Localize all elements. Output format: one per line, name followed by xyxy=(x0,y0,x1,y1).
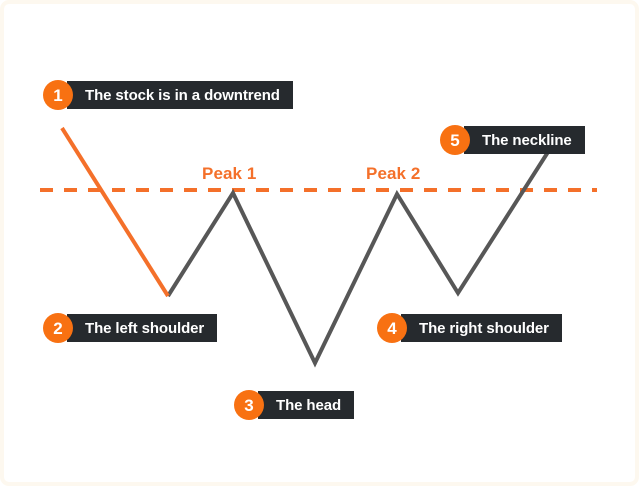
callout-left-shoulder[interactable]: 2 The left shoulder xyxy=(43,313,217,343)
peak-2-label: Peak 2 xyxy=(366,164,420,184)
callout-head[interactable]: 3 The head xyxy=(234,390,354,420)
callout-downtrend[interactable]: 1 The stock is in a downtrend xyxy=(43,80,293,110)
callout-label: The left shoulder xyxy=(67,314,217,342)
callout-number-badge: 2 xyxy=(43,313,73,343)
peak-1-label: Peak 1 xyxy=(202,164,256,184)
callout-label: The stock is in a downtrend xyxy=(67,81,293,109)
chart-canvas: Peak 1 Peak 2 1 The stock is in a downtr… xyxy=(0,0,639,486)
downtrend-line-orange xyxy=(62,128,168,296)
callout-number-badge: 3 xyxy=(234,390,264,420)
callout-label: The right shoulder xyxy=(401,314,562,342)
callout-neckline[interactable]: 5 The neckline xyxy=(440,125,585,155)
callout-number-badge: 4 xyxy=(377,313,407,343)
callout-right-shoulder[interactable]: 4 The right shoulder xyxy=(377,313,562,343)
callout-number-badge: 1 xyxy=(43,80,73,110)
callout-label: The head xyxy=(258,391,354,419)
callout-number-badge: 5 xyxy=(440,125,470,155)
callout-label: The neckline xyxy=(464,126,585,154)
